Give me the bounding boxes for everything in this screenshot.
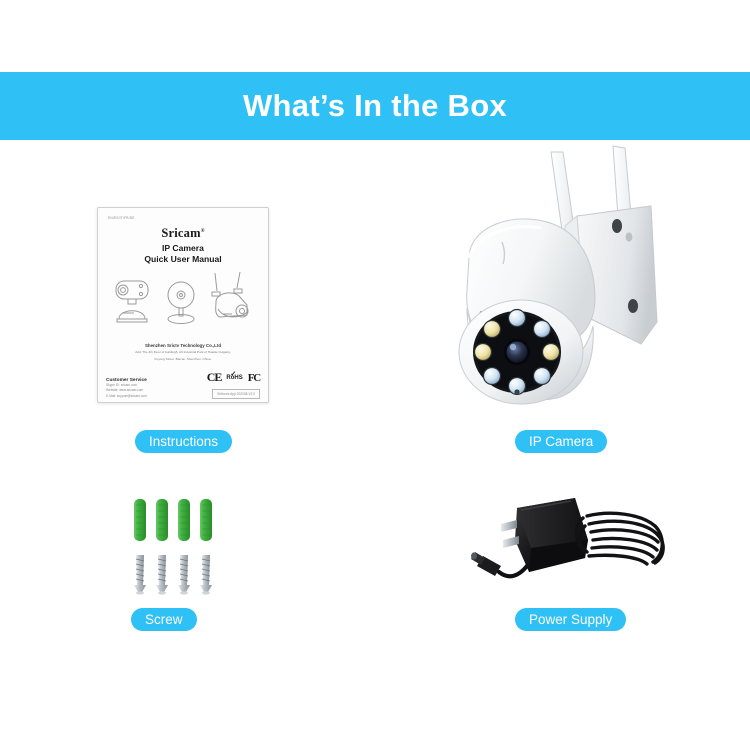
fcc-mark-icon: FC xyxy=(248,372,260,384)
screw xyxy=(178,555,190,595)
item-ip-camera: Sricam xyxy=(370,0,750,470)
label-screw: Screw xyxy=(131,608,197,631)
screws xyxy=(134,555,212,595)
item-instructions: EN/ES/IT/FR/DE Sricam® IP Camera Quick U… xyxy=(0,0,370,470)
manual-address-1: Add: The 4th Floor of building5, A9 Indu… xyxy=(106,350,260,355)
customer-service-title: Customer Service xyxy=(106,378,147,383)
customer-service-website: Website: www.sricam.com xyxy=(106,388,147,394)
label-instructions: Instructions xyxy=(135,430,232,453)
manual-brand-text: Sricam xyxy=(161,226,200,240)
whats-in-the-box-page: What’s In the Box EN/ES/IT/FR/DE Sricam®… xyxy=(0,0,750,750)
camera-illustration: Sricam xyxy=(445,140,685,425)
manual-brand: Sricam® xyxy=(106,226,260,241)
rohs-mark-icon: ✓ RoHS xyxy=(226,375,242,381)
manual-address-2: Fuyong Street, Bao'an, Shenzhen, China. xyxy=(106,357,260,362)
prong-lower xyxy=(503,536,519,548)
item-screw: Screw xyxy=(0,470,370,650)
dc-barrel-connector xyxy=(471,552,501,576)
manual-figures xyxy=(110,274,256,332)
certifications-block: CE ✓ RoHS FC SriHome App 202008-V2.0 xyxy=(207,370,260,399)
wall-anchor xyxy=(178,499,190,541)
led-right xyxy=(543,344,560,361)
screw xyxy=(200,555,212,595)
led-top-left xyxy=(484,321,501,338)
led-top-right xyxy=(534,321,551,338)
screw xyxy=(156,555,168,595)
manual-company: Shenzhen Srictv Technology Co.,Ltd xyxy=(106,343,260,348)
wall-anchor xyxy=(200,499,212,541)
ptz-dome-camera-art: Sricam xyxy=(445,140,685,430)
customer-service-block: Customer Service Skype ID: sricam.com We… xyxy=(106,378,147,400)
screws-and-anchors-art xyxy=(128,493,240,606)
item-power-supply: Power Supply xyxy=(370,470,750,650)
manual-footer: Customer Service Skype ID: sricam.com We… xyxy=(106,370,260,399)
manual-languages: EN/ES/IT/FR/DE xyxy=(108,216,260,220)
camera-lens-assembly xyxy=(473,310,561,395)
led-bottom-left xyxy=(484,368,501,385)
manual-subtitle-1: IP Camera xyxy=(106,243,260,253)
coiled-cable xyxy=(576,513,663,564)
quick-user-manual-art: EN/ES/IT/FR/DE Sricam® IP Camera Quick U… xyxy=(97,207,269,403)
led-left xyxy=(475,344,492,361)
led-bottom-right xyxy=(534,368,551,385)
screws-illustration xyxy=(128,493,240,601)
bullet-camera-icon xyxy=(110,275,156,332)
ce-mark-icon: CE xyxy=(207,370,222,385)
prong-upper xyxy=(501,520,517,532)
dc-cable xyxy=(499,566,527,576)
manual-app-version: SriHome App 202008-V2.0 xyxy=(212,389,260,399)
manual-brand-mark: ® xyxy=(201,229,205,234)
wall-anchors xyxy=(134,499,212,541)
customer-service-email: E-Mail: support@sricam.com xyxy=(106,394,147,400)
wall-anchor xyxy=(156,499,168,541)
power-adapter-art xyxy=(465,480,670,605)
label-power-supply: Power Supply xyxy=(515,608,626,631)
screw xyxy=(134,555,146,595)
led-top xyxy=(509,310,526,327)
label-ip-camera: IP Camera xyxy=(515,430,607,453)
power-supply-illustration xyxy=(465,480,670,600)
indoor-camera-icon xyxy=(159,275,203,332)
wall-anchor xyxy=(134,499,146,541)
ptz-dome-camera-icon xyxy=(206,271,256,332)
certification-marks: CE ✓ RoHS FC xyxy=(207,370,260,385)
rohs-tick-icon: ✓ xyxy=(230,370,236,378)
manual-subtitle-2: Quick User Manual xyxy=(106,254,260,264)
